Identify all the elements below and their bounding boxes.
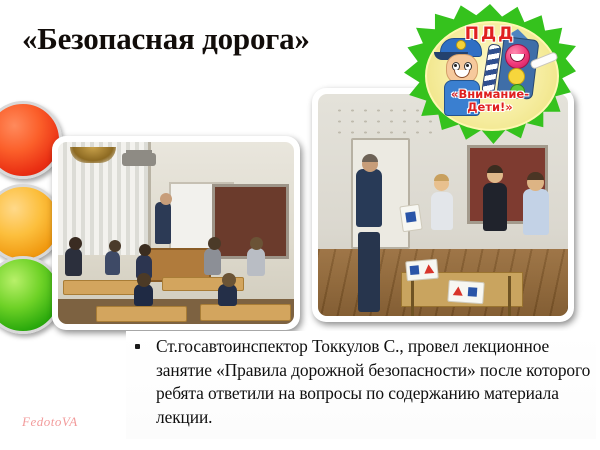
classroom-lecture-photo — [52, 136, 300, 330]
sign-glyph — [423, 264, 434, 274]
classroom-pupil — [204, 248, 221, 275]
road-sign-card — [447, 279, 484, 303]
traffic-light-character-yellow — [508, 68, 525, 85]
presentation-slide: «Безопасная дорога» — [0, 0, 600, 450]
inspector-legs — [358, 232, 380, 312]
classroom-pupil — [218, 284, 237, 306]
classroom-inspector-figure — [155, 202, 171, 244]
sign-glyph — [409, 266, 419, 276]
table-leg — [508, 276, 511, 316]
inspector-body — [356, 169, 382, 227]
badge-motto-line2: Дети!» — [404, 101, 576, 114]
sign-glyph — [453, 286, 464, 296]
pdd-logo-badge: ПДД «Внимание- Дети!» — [404, 4, 576, 144]
badge-heading: ПДД — [404, 24, 576, 44]
classroom-pupil — [65, 248, 82, 276]
slide-body-textblock: Ст.госавтоинспектор Токкулов С., провел … — [126, 331, 596, 439]
table-leg — [411, 276, 414, 316]
bullet-point-icon — [135, 344, 140, 349]
body-paragraph-text: Ст.госавтоинспектор Токкулов С., провел … — [156, 335, 596, 429]
pupil-figure — [523, 189, 549, 235]
pupil-figure — [431, 192, 453, 230]
held-sign-card — [399, 204, 422, 233]
policeman-eye-pupil — [454, 64, 457, 67]
classroom-projector — [122, 153, 156, 166]
bullet-paragraph: Ст.госавтоинспектор Токкулов С., провел … — [126, 331, 596, 429]
classroom-pupil-head — [109, 240, 121, 252]
policeman-eye-pupil — [466, 64, 469, 67]
classroom-pupil — [105, 251, 120, 275]
classroom-photo-image — [58, 142, 294, 324]
sign-glyph — [468, 287, 478, 297]
classroom-pupil-head — [208, 237, 221, 250]
classroom-pupil-head — [69, 237, 82, 250]
inspector-hair — [362, 154, 378, 162]
sign-glyph — [405, 211, 416, 222]
classroom-pupil-head — [137, 273, 151, 287]
classroom-desk — [63, 280, 145, 295]
classroom-pupil-head — [222, 273, 236, 287]
classroom-pupil — [134, 284, 153, 306]
badge-motto: «Внимание- Дети!» — [404, 88, 576, 114]
classroom-pupil — [247, 248, 265, 276]
slide-title: «Безопасная дорога» — [22, 21, 422, 57]
classroom-desk — [96, 306, 188, 323]
road-sign-card — [405, 259, 439, 282]
pupil-figure — [483, 183, 507, 231]
watermark: FedotoVA — [22, 414, 78, 430]
pupil-hair — [487, 165, 503, 173]
classroom-desk — [200, 304, 292, 321]
classroom-pupil-head — [250, 237, 263, 250]
